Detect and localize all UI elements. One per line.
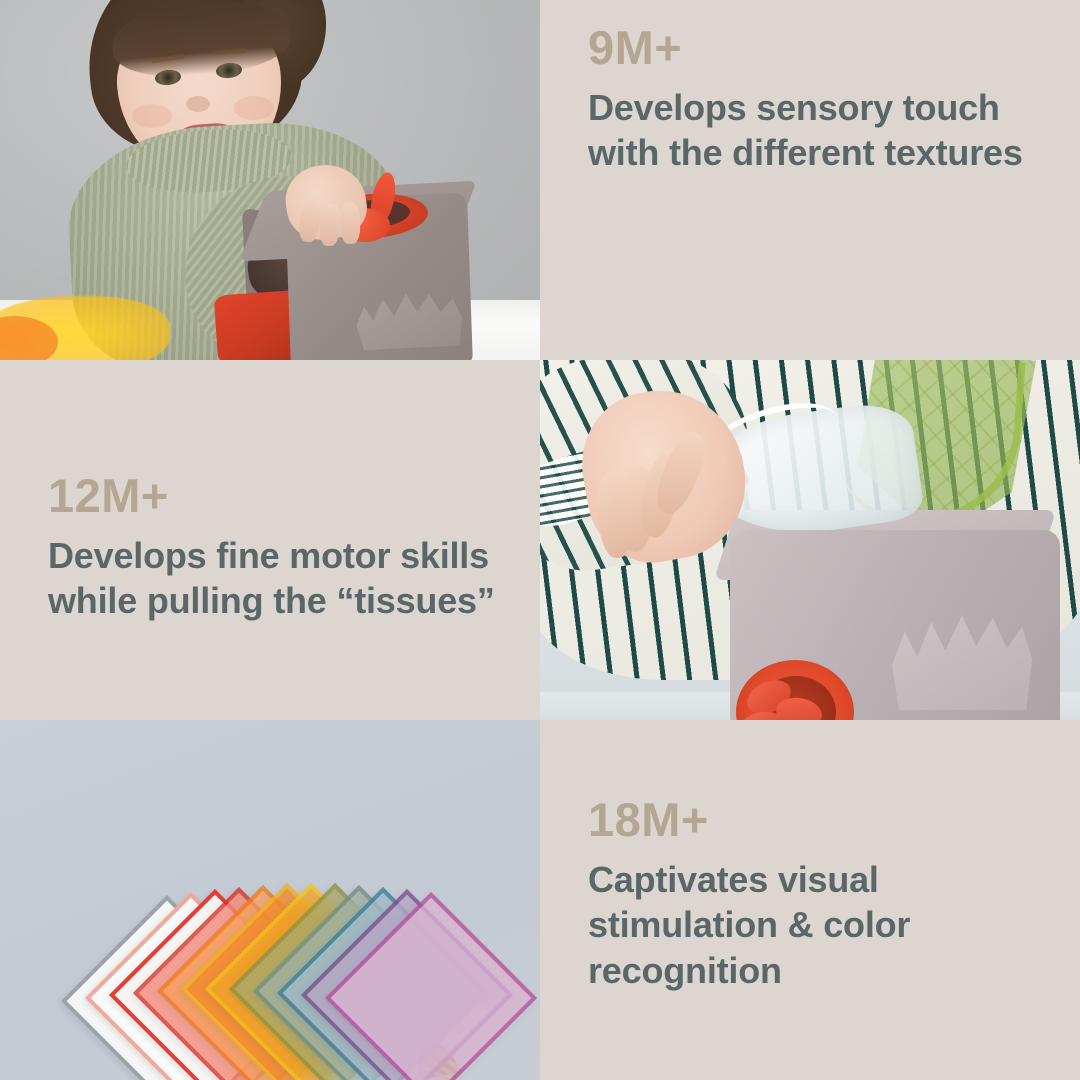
age-label-9m: 9M+	[588, 24, 1058, 71]
description-9m: Develops sensory touch with the differen…	[588, 85, 1058, 176]
description-18m: Captivates visual stimulation & color re…	[588, 857, 1048, 993]
photo-hand-pulling-tissue	[540, 360, 1080, 720]
age-label-12m: 12M+	[48, 472, 528, 519]
description-12m: Develops fine motor skills while pulling…	[48, 533, 528, 624]
photo-toddler-cube	[0, 0, 540, 360]
toddler-cheek-left	[132, 104, 172, 128]
panel-9m: 9M+ Develops sensory touch with the diff…	[540, 0, 1080, 360]
photo-scarves-fan	[0, 720, 540, 1080]
toddler-finger-3	[339, 202, 360, 245]
panel-12m: 12M+ Develops fine motor skills while pu…	[0, 360, 540, 720]
toddler-cheek-right	[234, 96, 274, 120]
age-label-18m: 18M+	[588, 796, 1048, 843]
panel-18m: 18M+ Captivates visual stimulation & col…	[540, 720, 1080, 1080]
toddler-nose	[186, 96, 210, 112]
product-feature-collage: 9M+ Develops sensory touch with the diff…	[0, 0, 1080, 1080]
